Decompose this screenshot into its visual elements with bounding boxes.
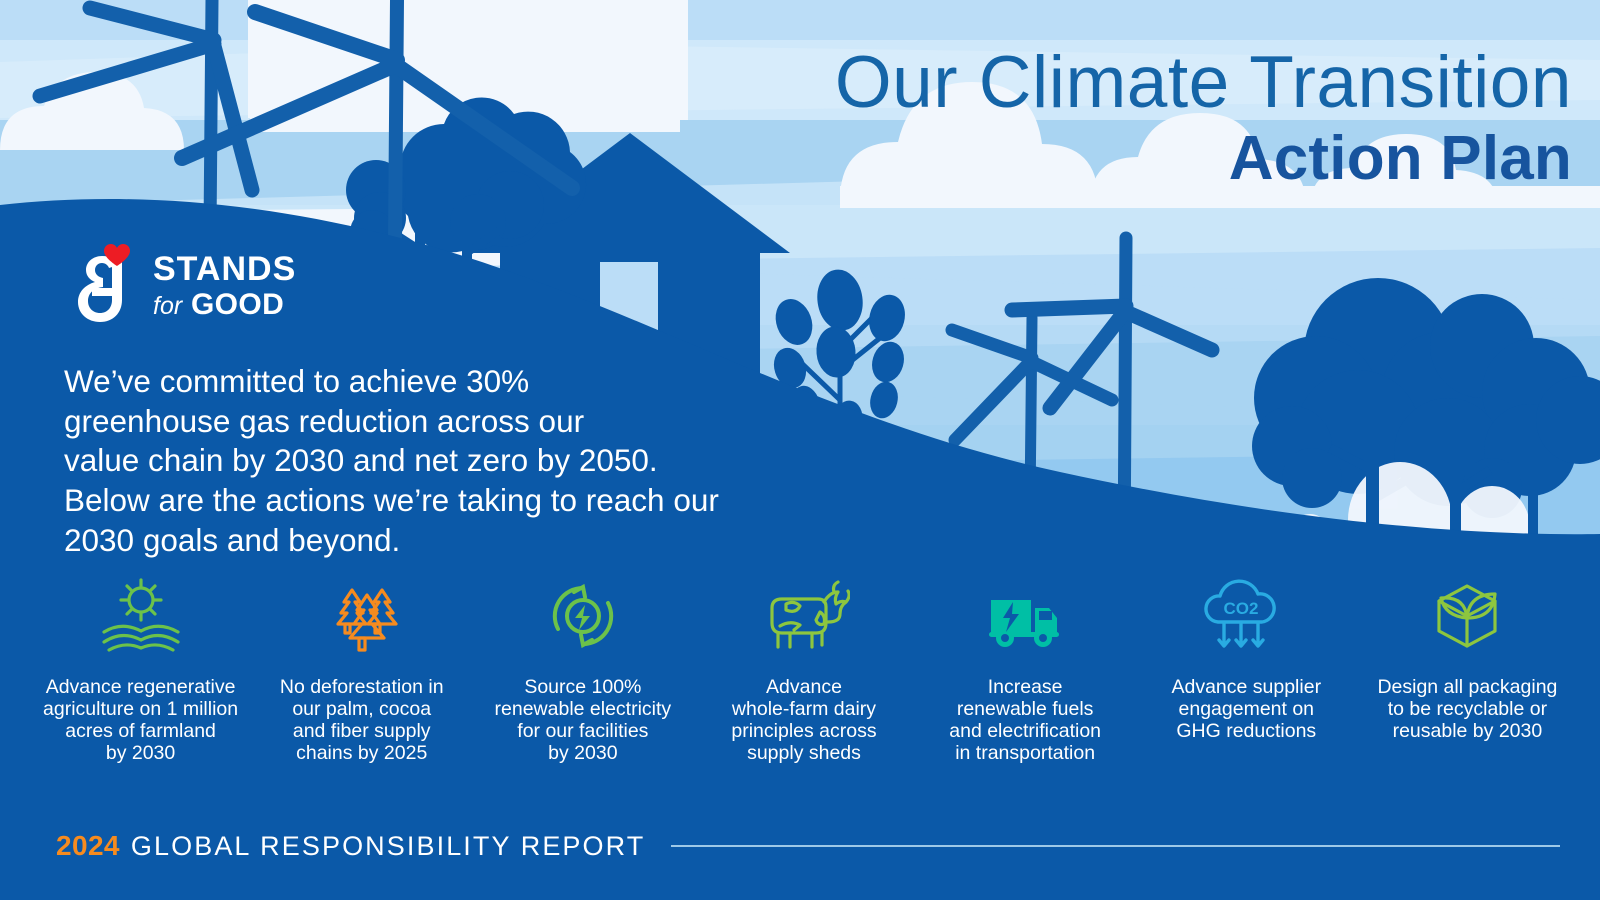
icon-slot <box>758 578 850 654</box>
caption-line: supply sheds <box>731 742 876 764</box>
action-caption: Advance regenerative agriculture on 1 mi… <box>43 676 238 764</box>
intro-line: value chain by 2030 and net zero by 2050… <box>64 441 719 481</box>
caption-line: Increase <box>949 676 1101 698</box>
caption-line: Advance regenerative <box>43 676 238 698</box>
infographic-canvas: Our Climate Transition Action Plan STAND… <box>0 0 1600 900</box>
caption-line: renewable fuels <box>949 698 1101 720</box>
icon-slot <box>319 578 405 654</box>
caption-line: our palm, cocoa <box>280 698 444 720</box>
logo-stands-text: STANDS <box>153 252 296 286</box>
icon-slot <box>1424 578 1510 654</box>
action-caption: Advance whole-farm dairy principles acro… <box>731 676 876 764</box>
renewable-electricity-icon <box>540 578 626 654</box>
action-caption: Advance supplier engagement on GHG reduc… <box>1171 676 1321 742</box>
title-line-primary: Our Climate Transition <box>835 46 1572 119</box>
logo-for-word: for <box>153 292 182 320</box>
electric-truck-icon <box>979 578 1071 654</box>
action-item-regenerative-agriculture: Advance regenerative agriculture on 1 mi… <box>30 578 251 764</box>
caption-line: principles across <box>731 720 876 742</box>
caption-line: Advance <box>731 676 876 698</box>
action-item-renewable-electricity: Source 100% renewable electricity for ou… <box>472 578 693 764</box>
caption-line: for our facilities <box>495 720 672 742</box>
report-footer: 2024 GLOBAL RESPONSIBILITY REPORT <box>56 830 1560 862</box>
caption-line: Advance supplier <box>1171 676 1321 698</box>
caption-line: acres of farmland <box>43 720 238 742</box>
caption-line: whole-farm dairy <box>731 698 876 720</box>
action-item-whole-farm-dairy: Advance whole-farm dairy principles acro… <box>693 578 914 764</box>
caption-line: renewable electricity <box>495 698 672 720</box>
action-item-no-deforestation: No deforestation in our palm, cocoa and … <box>251 578 472 764</box>
caption-line: Source 100% <box>495 676 672 698</box>
intro-line: 2030 goals and beyond. <box>64 521 719 561</box>
action-items-row: Advance regenerative agriculture on 1 mi… <box>30 578 1578 778</box>
general-mills-g-heart-mark <box>66 242 140 324</box>
action-caption: Source 100% renewable electricity for ou… <box>495 676 672 764</box>
caption-line: in transportation <box>949 742 1101 764</box>
sky-band <box>0 0 1600 40</box>
co2-cloud-down-arrows-icon: CO2 <box>1198 578 1294 654</box>
caption-line: to be recyclable or <box>1377 698 1557 720</box>
sun-over-field-icon <box>98 578 184 654</box>
caption-line: agriculture on 1 million <box>43 698 238 720</box>
intro-line: Below are the actions we’re taking to re… <box>64 481 719 521</box>
caption-line: GHG reductions <box>1171 720 1321 742</box>
icon-slot: CO2 <box>1198 578 1294 654</box>
stands-for-good-logo: STANDS for GOOD <box>66 242 296 324</box>
action-caption: No deforestation in our palm, cocoa and … <box>280 676 444 764</box>
icon-slot <box>98 578 184 654</box>
page-title: Our Climate Transition Action Plan <box>835 46 1572 193</box>
caption-line: by 2030 <box>43 742 238 764</box>
icon-slot <box>540 578 626 654</box>
recyclable-package-leaves-icon <box>1424 578 1510 654</box>
caption-line: reusable by 2030 <box>1377 720 1557 742</box>
action-item-renewable-fuels-transport: Increase renewable fuels and electrifica… <box>915 578 1136 764</box>
caption-line: No deforestation in <box>280 676 444 698</box>
logo-for-good-text: for GOOD <box>153 290 296 320</box>
icon-slot <box>979 578 1071 654</box>
title-line-secondary: Action Plan <box>835 125 1572 193</box>
intro-line: We’ve committed to achieve 30% <box>64 362 719 402</box>
caption-line: engagement on <box>1171 698 1321 720</box>
action-caption: Design all packaging to be recyclable or… <box>1377 676 1557 742</box>
action-item-packaging: Design all packaging to be recyclable or… <box>1357 578 1578 742</box>
svg-text:CO2: CO2 <box>1224 599 1259 618</box>
caption-line: and fiber supply <box>280 720 444 742</box>
caption-line: by 2030 <box>495 742 672 764</box>
logo-good-word: GOOD <box>191 288 284 321</box>
dairy-cow-icon <box>758 578 850 654</box>
caption-line: Design all packaging <box>1377 676 1557 698</box>
caption-line: and electrification <box>949 720 1101 742</box>
intro-line: greenhouse gas reduction across our <box>64 402 719 442</box>
footer-year: 2024 <box>56 830 120 862</box>
footer-rule <box>671 845 1560 847</box>
intro-paragraph: We’ve committed to achieve 30% greenhous… <box>64 362 719 560</box>
action-item-supplier-engagement: CO2 Advance supplier engagement on GHG r… <box>1136 578 1357 742</box>
footer-report-title: GLOBAL RESPONSIBILITY REPORT <box>131 831 645 862</box>
action-caption: Increase renewable fuels and electrifica… <box>949 676 1101 764</box>
caption-line: chains by 2025 <box>280 742 444 764</box>
pine-trees-icon <box>319 578 405 654</box>
